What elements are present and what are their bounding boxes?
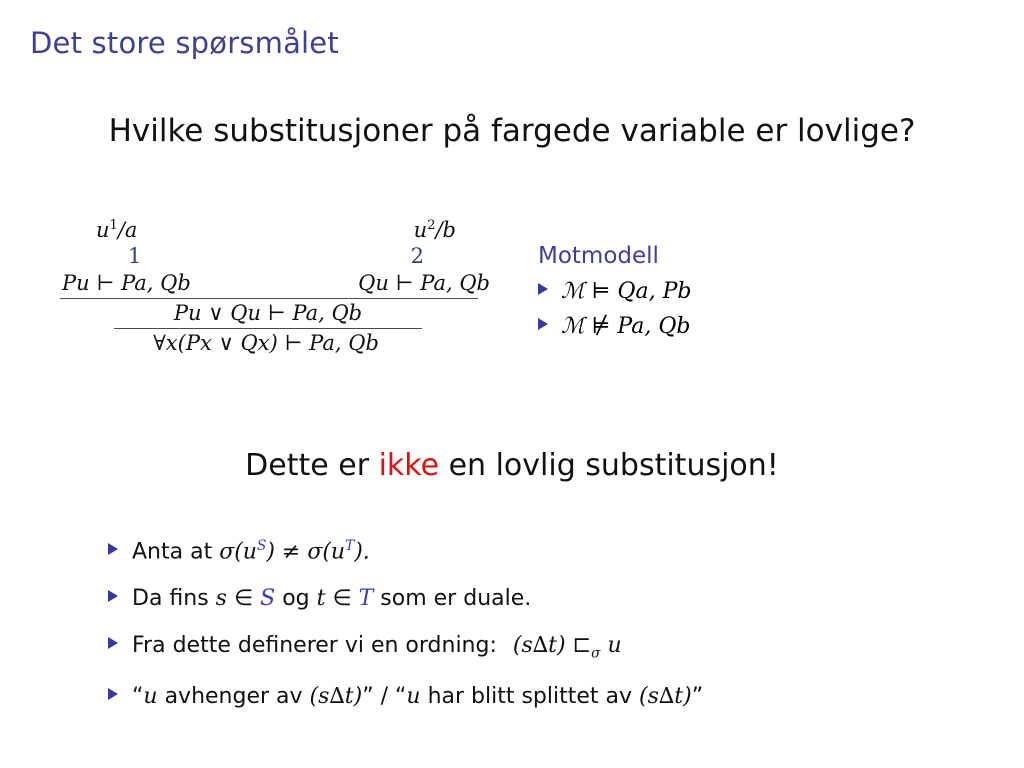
page-title: Det store spørsmålet <box>30 26 339 60</box>
proof-tree-substitution-row: u1/a u2/b <box>56 218 496 242</box>
inline-run: ) ≠ σ(u <box>266 539 345 564</box>
inline-run: σ(u <box>219 539 257 564</box>
inline-run: Fra dette definerer vi en ordning: <box>132 633 497 658</box>
inline-run: s <box>216 586 227 611</box>
inline-run: S <box>257 538 266 554</box>
motmodell-block: Motmodell ℳ ⊨ Qa, Pb ℳ ⊭ Pa, Qb <box>538 243 691 339</box>
triangle-bullet-icon <box>538 318 548 330</box>
list-item-ordning-label: Fra dette definerer vi en ordning:(s∆t) … <box>132 633 622 661</box>
sequent-leaf-right: Qu ⊢ Pa, Qb <box>358 271 490 295</box>
emphasis-after: en lovlig substitusjon! <box>439 448 779 483</box>
list-item-avhenger-label: “u avhenger av (s∆t)” / “u har blitt spl… <box>132 684 703 709</box>
triangle-bullet-icon <box>108 543 118 555</box>
proof-tree-branch-number-row: 1 2 <box>56 244 496 268</box>
substitution-label-right: u2/b <box>414 218 456 242</box>
inline-run: (s∆t) <box>310 684 363 709</box>
list-item-ordning: Fra dette definerer vi en ordning:(s∆t) … <box>108 633 968 661</box>
motmodell-item-2-label: ℳ ⊭ Pa, Qb <box>561 314 690 339</box>
inline-run: ” / “ <box>362 684 406 709</box>
inline-run: u <box>143 684 157 709</box>
list-item-anta-label: Anta at σ(uS) ≠ σ(uT). <box>132 538 370 564</box>
triangle-bullet-icon <box>538 283 548 295</box>
branch-number-2: 2 <box>411 244 424 268</box>
inline-run: S <box>260 586 275 611</box>
list-item-anta: Anta at σ(uS) ≠ σ(uT). <box>108 538 968 564</box>
inline-run: ” <box>692 684 703 709</box>
triangle-bullet-icon <box>108 688 118 700</box>
inline-run: “ <box>132 684 143 709</box>
motmodell-item-2: ℳ ⊭ Pa, Qb <box>538 314 691 339</box>
inline-run: har blitt splittet av <box>421 684 639 709</box>
inline-run: u <box>406 684 420 709</box>
inline-run: u <box>600 633 621 658</box>
list-item-da-fins-label: Da fins s ∈ S og t ∈ T som er duale. <box>132 586 531 611</box>
branch-number-1: 1 <box>128 244 141 268</box>
inline-run: og <box>275 586 316 611</box>
list-item-avhenger: “u avhenger av (s∆t)” / “u har blitt spl… <box>108 684 968 709</box>
triangle-bullet-icon <box>108 590 118 602</box>
triangle-bullet-icon <box>108 637 118 649</box>
substitution-label-left: u1/a <box>96 218 137 242</box>
main-question-heading: Hvilke substitusjoner på fargede variabl… <box>0 113 1024 149</box>
inline-run: Da fins <box>132 586 216 611</box>
inline-run: T <box>345 538 354 554</box>
inline-run: (s∆t) <box>639 684 692 709</box>
bullet-list: Anta at σ(uS) ≠ σ(uT). Da fins s ∈ S og … <box>108 538 968 731</box>
emphasis-line: Dette er ikke en lovlig substitusjon! <box>0 448 1024 483</box>
inline-run: avhenger av <box>158 684 310 709</box>
inline-run: ∈ <box>227 586 260 611</box>
substitution-superscript-left: 1 <box>110 218 118 233</box>
emphasis-highlight: ikke <box>379 448 439 483</box>
list-item-da-fins: Da fins s ∈ S og t ∈ T som er duale. <box>108 586 968 611</box>
inline-run: som er duale. <box>373 586 531 611</box>
sequent-leaf-left: Pu ⊢ Pa, Qb <box>62 271 191 295</box>
motmodell-item-1-label: ℳ ⊨ Qa, Pb <box>561 279 691 304</box>
inline-run: T <box>359 586 374 611</box>
inline-run: ). <box>354 539 370 564</box>
proof-tree: u1/a u2/b 1 2 Pu ⊢ Pa, Qb Qu ⊢ Pa, Qb Pu… <box>56 218 496 355</box>
sequent-middle: Pu ∨ Qu ⊢ Pa, Qb <box>114 299 422 325</box>
emphasis-before: Dette er <box>245 448 378 483</box>
inline-run: ∈ <box>325 586 358 611</box>
inline-run: (s∆t) ⊏ <box>513 633 591 658</box>
proof-tree-leaf-row: Pu ⊢ Pa, Qb Qu ⊢ Pa, Qb <box>56 271 496 295</box>
motmodell-heading: Motmodell <box>538 243 691 269</box>
sequent-bottom: ∀x(Px ∨ Qx) ⊢ Pa, Qb <box>76 329 456 355</box>
inline-run: Anta at <box>132 539 219 564</box>
motmodell-item-1: ℳ ⊨ Qa, Pb <box>538 279 691 304</box>
